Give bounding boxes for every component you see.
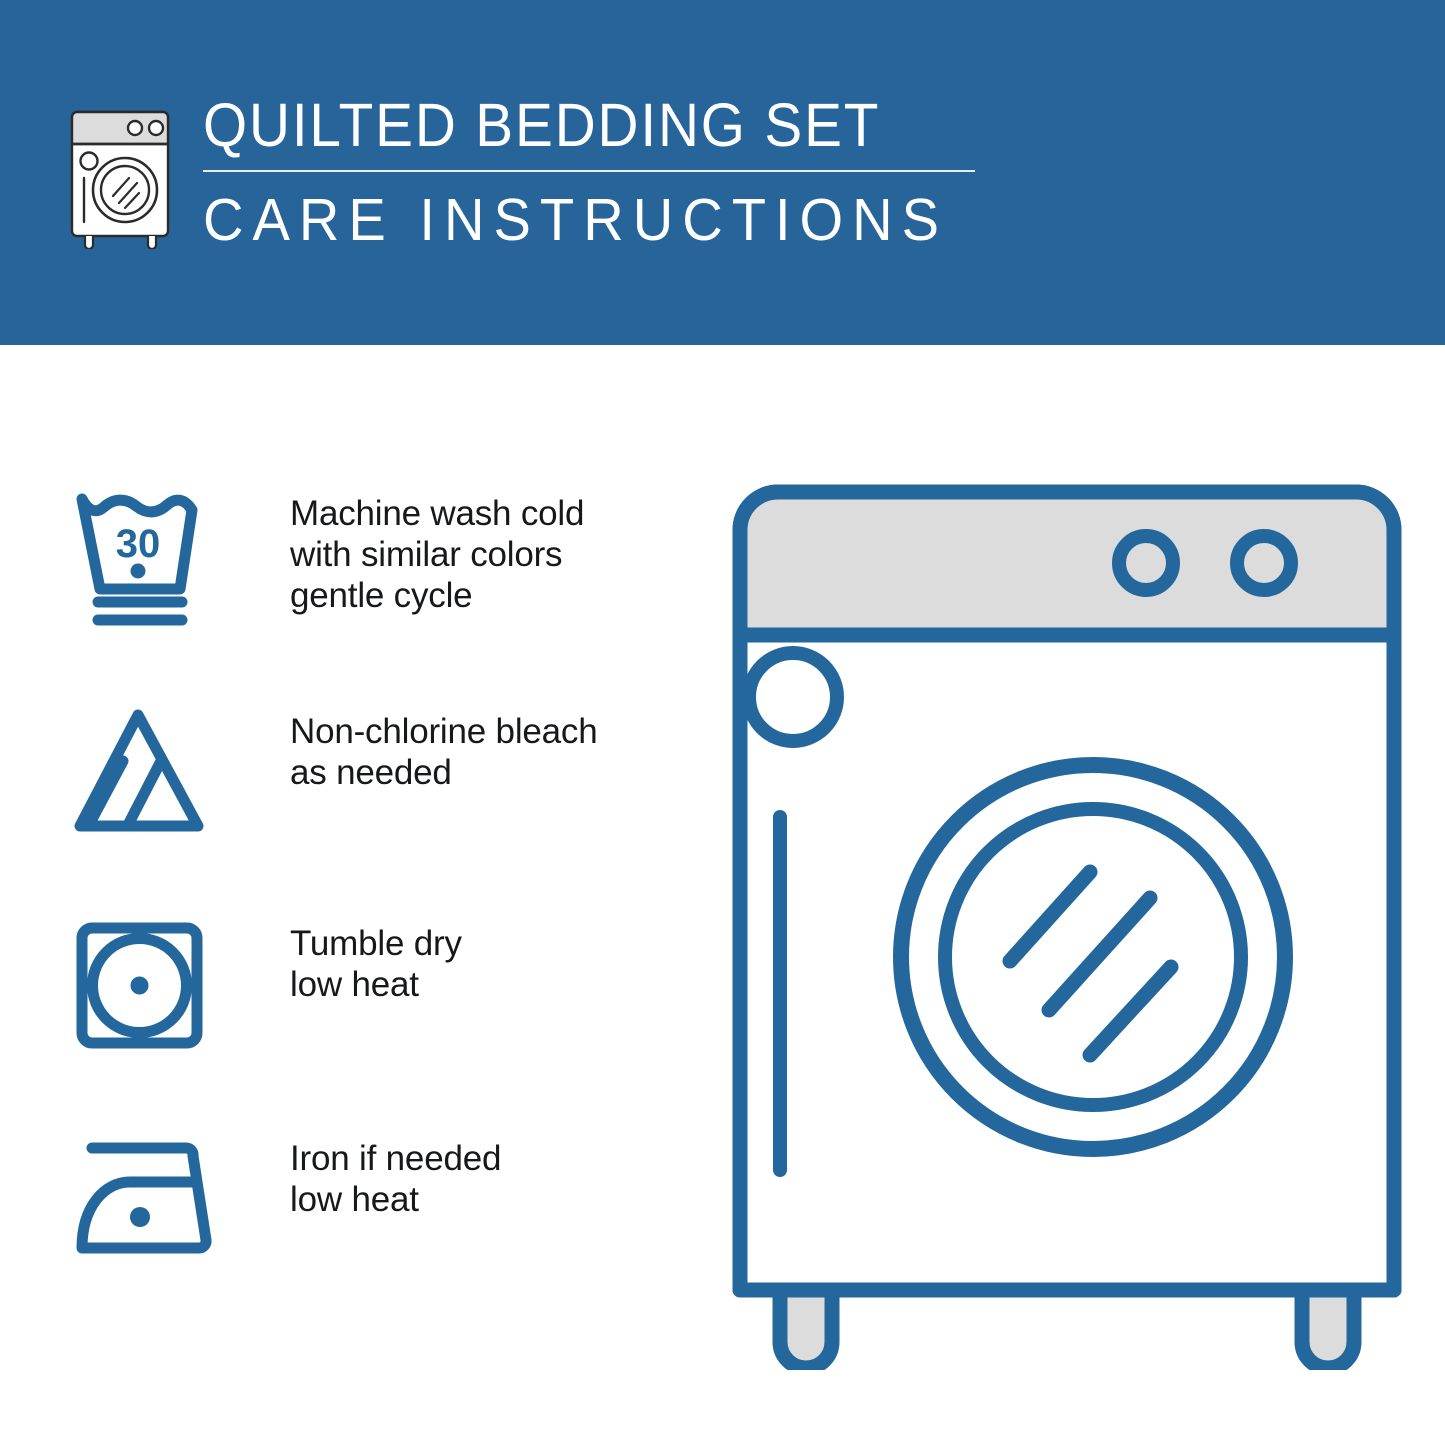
wash-basin-30-gentle-icon: 30: [70, 485, 235, 635]
care-instructions-infographic: QUILTED BEDDING SET CARE INSTRUCTIONS 30: [0, 0, 1445, 1445]
front-load-washing-machine-illustration: [718, 470, 1418, 1370]
triangle-non-chlorine-bleach-icon: [70, 703, 235, 853]
care-text-tumble-dry: Tumble dry low heat: [290, 923, 690, 1005]
care-line: gentle cycle: [290, 575, 690, 616]
washing-machine-icon: [63, 104, 183, 249]
care-symbol-list: 30 Machine wash cold with similar colors…: [0, 345, 700, 1445]
leg: [1302, 1290, 1354, 1368]
wash-temperature-value: 30: [116, 522, 161, 566]
care-line: Tumble dry: [290, 923, 690, 964]
page-subtitle: CARE INSTRUCTIONS: [203, 191, 963, 250]
care-line: Machine wash cold: [290, 493, 690, 534]
care-text-machine-wash: Machine wash cold with similar colors ge…: [290, 493, 690, 616]
tumble-dry-low-heat-icon: [70, 915, 235, 1065]
care-line: with similar colors: [290, 534, 690, 575]
page-title: QUILTED BEDDING SET: [203, 95, 947, 156]
title-divider: [203, 170, 975, 172]
header-text-block: QUILTED BEDDING SET CARE INSTRUCTIONS: [203, 95, 1003, 250]
care-text-bleach: Non-chlorine bleach as needed: [290, 711, 690, 793]
care-line: Iron if needed: [290, 1138, 690, 1179]
header-banner: QUILTED BEDDING SET CARE INSTRUCTIONS: [0, 0, 1445, 345]
care-line: low heat: [290, 1179, 690, 1220]
knob: [1119, 536, 1173, 590]
care-line: Non-chlorine bleach: [290, 711, 690, 752]
care-line: as needed: [290, 752, 690, 793]
care-line: low heat: [290, 964, 690, 1005]
iron-low-heat-icon: [70, 1130, 235, 1280]
detergent-port: [749, 653, 837, 741]
knob: [1237, 536, 1291, 590]
leg: [780, 1290, 832, 1368]
care-text-iron: Iron if needed low heat: [290, 1138, 690, 1220]
